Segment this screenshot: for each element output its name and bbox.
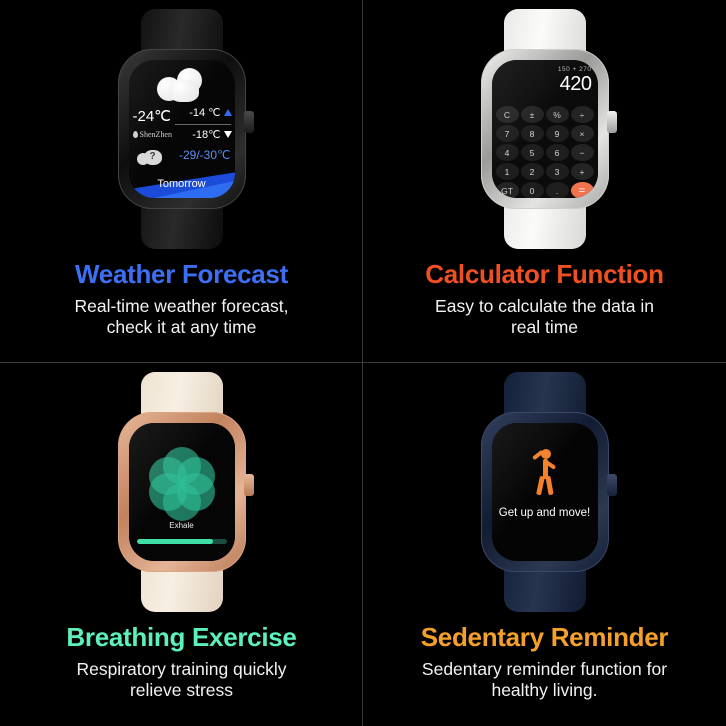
tomorrow-temperature: -29/-30℃	[179, 148, 231, 162]
panel-subtitle-sedentary: Sedentary reminder function for healthy …	[408, 659, 681, 703]
watch-crown-button[interactable]	[607, 111, 617, 133]
calc-key-decimal[interactable]: .	[546, 182, 569, 198]
watch-case: Get up and move!	[481, 412, 609, 572]
calc-key-6[interactable]: 6	[546, 144, 569, 161]
calc-key-0[interactable]: 0	[521, 182, 544, 198]
high-temperature: -14 ℃	[189, 106, 220, 119]
panel-title-sedentary: Sedentary Reminder	[421, 623, 668, 652]
triangle-down-icon	[224, 131, 232, 138]
calc-key-plus[interactable]: +	[571, 163, 594, 180]
temperature-divider	[175, 124, 231, 125]
panel-subtitle-breathing: Respiratory training quickly relieve str…	[62, 659, 300, 703]
sedentary-message: Get up and move!	[492, 507, 598, 519]
feature-grid: -24℃ ShenZhen -14 ℃ -18℃	[0, 0, 726, 726]
location-row: ShenZhen	[133, 130, 172, 139]
watch-case: Exhale	[118, 412, 246, 572]
watch-case: 150 + 270 420 C ± % ÷ 7 8 9 ×	[481, 49, 609, 209]
watch-screen-breathing[interactable]: Exhale	[129, 423, 235, 561]
calc-key-equals[interactable]: =	[571, 182, 594, 198]
stretching-person-icon	[528, 449, 562, 495]
calc-key-clear[interactable]: C	[496, 106, 519, 123]
grid-divider-horizontal	[0, 362, 726, 363]
watch-crown-button[interactable]	[607, 474, 617, 496]
low-temperature-row: -18℃	[192, 128, 231, 141]
calc-key-7[interactable]: 7	[496, 125, 519, 142]
calc-key-minus[interactable]: −	[571, 144, 594, 161]
watch-screen-sedentary[interactable]: Get up and move!	[492, 423, 598, 561]
panel-title-calculator: Calculator Function	[425, 260, 663, 289]
calc-key-2[interactable]: 2	[521, 163, 544, 180]
location-pin-icon	[133, 131, 138, 138]
calc-key-3[interactable]: 3	[546, 163, 569, 180]
watch-screen-calculator[interactable]: 150 + 270 420 C ± % ÷ 7 8 9 ×	[492, 60, 598, 198]
calc-key-sign[interactable]: ±	[521, 106, 544, 123]
calc-key-5[interactable]: 5	[521, 144, 544, 161]
current-temperature: -24℃	[133, 107, 172, 125]
watch-crown-button[interactable]	[244, 474, 254, 496]
watch-sedentary: Get up and move!	[363, 363, 726, 621]
location-label: ShenZhen	[140, 130, 172, 139]
watch-screen-weather[interactable]: -24℃ ShenZhen -14 ℃ -18℃	[129, 60, 235, 198]
calc-key-4[interactable]: 4	[496, 144, 519, 161]
calculator-expression: 150 + 270	[558, 66, 592, 73]
panel-subtitle-calculator: Easy to calculate the data in real time	[421, 296, 668, 340]
calc-key-multiply[interactable]: ×	[571, 125, 594, 142]
watch-weather: -24℃ ShenZhen -14 ℃ -18℃	[0, 0, 363, 258]
calc-key-8[interactable]: 8	[521, 125, 544, 142]
high-temperature-row: -14 ℃	[189, 106, 231, 119]
triangle-up-icon	[224, 109, 232, 116]
breathing-phase-label: Exhale	[129, 521, 235, 530]
watch-case: -24℃ ShenZhen -14 ℃ -18℃	[118, 49, 246, 209]
low-temperature: -18℃	[192, 128, 220, 141]
cloud-question-icon: ?	[137, 148, 163, 165]
panel-calculator-function: 150 + 270 420 C ± % ÷ 7 8 9 ×	[363, 0, 726, 363]
panel-sedentary-reminder: Get up and move! Sedentary Reminder Sede…	[363, 363, 726, 726]
cloudy-icon	[155, 68, 213, 102]
calc-key-divide[interactable]: ÷	[571, 106, 594, 123]
grid-divider-vertical	[362, 0, 363, 726]
calculator-result: 420	[560, 73, 592, 96]
calc-key-1[interactable]: 1	[496, 163, 519, 180]
panel-breathing-exercise: Exhale Breathing Exercise Respiratory tr…	[0, 363, 363, 726]
panel-title-weather: Weather Forecast	[75, 260, 288, 289]
calc-key-percent[interactable]: %	[546, 106, 569, 123]
panel-subtitle-weather: Real-time weather forecast, check it at …	[61, 296, 303, 340]
watch-calculator: 150 + 270 420 C ± % ÷ 7 8 9 ×	[363, 0, 726, 258]
calc-key-9[interactable]: 9	[546, 125, 569, 142]
calc-key-gt[interactable]: GT	[496, 182, 519, 198]
breathing-flower-icon	[149, 447, 215, 513]
tomorrow-label: Tomorrow	[129, 178, 235, 190]
watch-breathing: Exhale	[0, 363, 363, 621]
calculator-keypad[interactable]: C ± % ÷ 7 8 9 × 4 5 6 −	[496, 106, 594, 198]
watch-crown-button[interactable]	[244, 111, 254, 133]
breathing-progress-fill	[137, 539, 214, 544]
panel-weather-forecast: -24℃ ShenZhen -14 ℃ -18℃	[0, 0, 363, 363]
panel-title-breathing: Breathing Exercise	[66, 623, 296, 652]
breathing-progress-track	[137, 539, 227, 544]
